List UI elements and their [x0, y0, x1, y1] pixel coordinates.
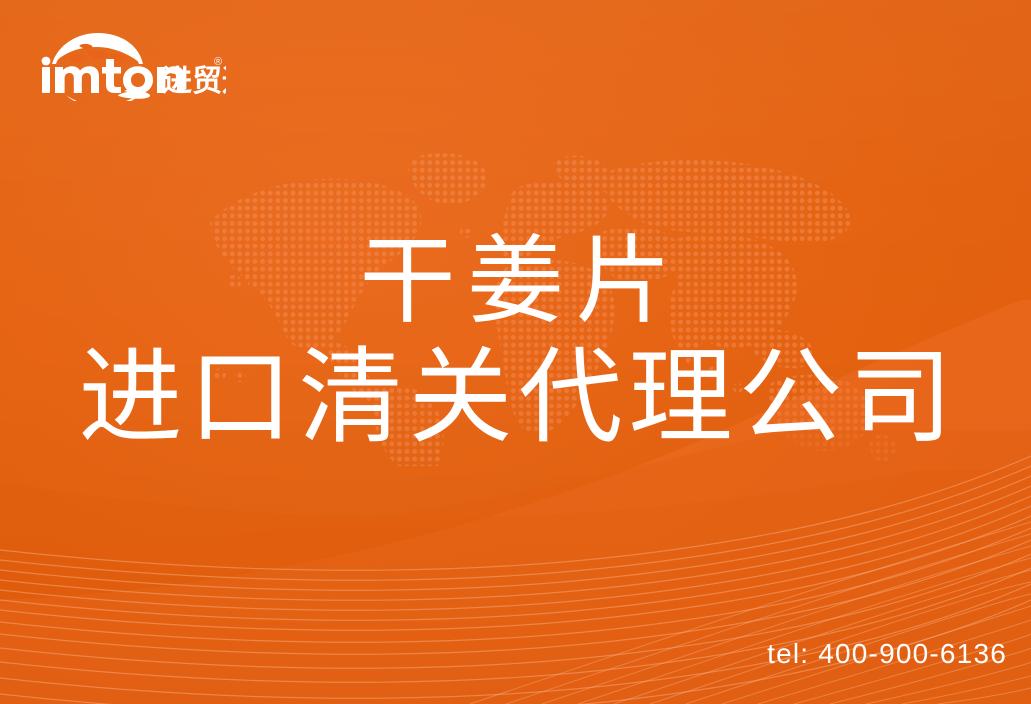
company-logo[interactable]: 进贸通 ® [36, 33, 226, 101]
headline-block: 干姜片 进口清关代理公司 [0, 226, 1031, 458]
globe-icon [52, 33, 143, 64]
telephone-text: tel: 400-900-6136 [767, 638, 1007, 670]
logo-chinese-name: 进贸通 [162, 65, 226, 98]
promotional-banner: 进贸通 ® 干姜片 进口清关代理公司 tel: 400-900-6136 [0, 0, 1031, 704]
headline-line-2: 进口清关代理公司 [0, 338, 1031, 458]
headline-line-1: 干姜片 [0, 226, 1031, 338]
registered-mark-icon: ® [214, 56, 222, 68]
